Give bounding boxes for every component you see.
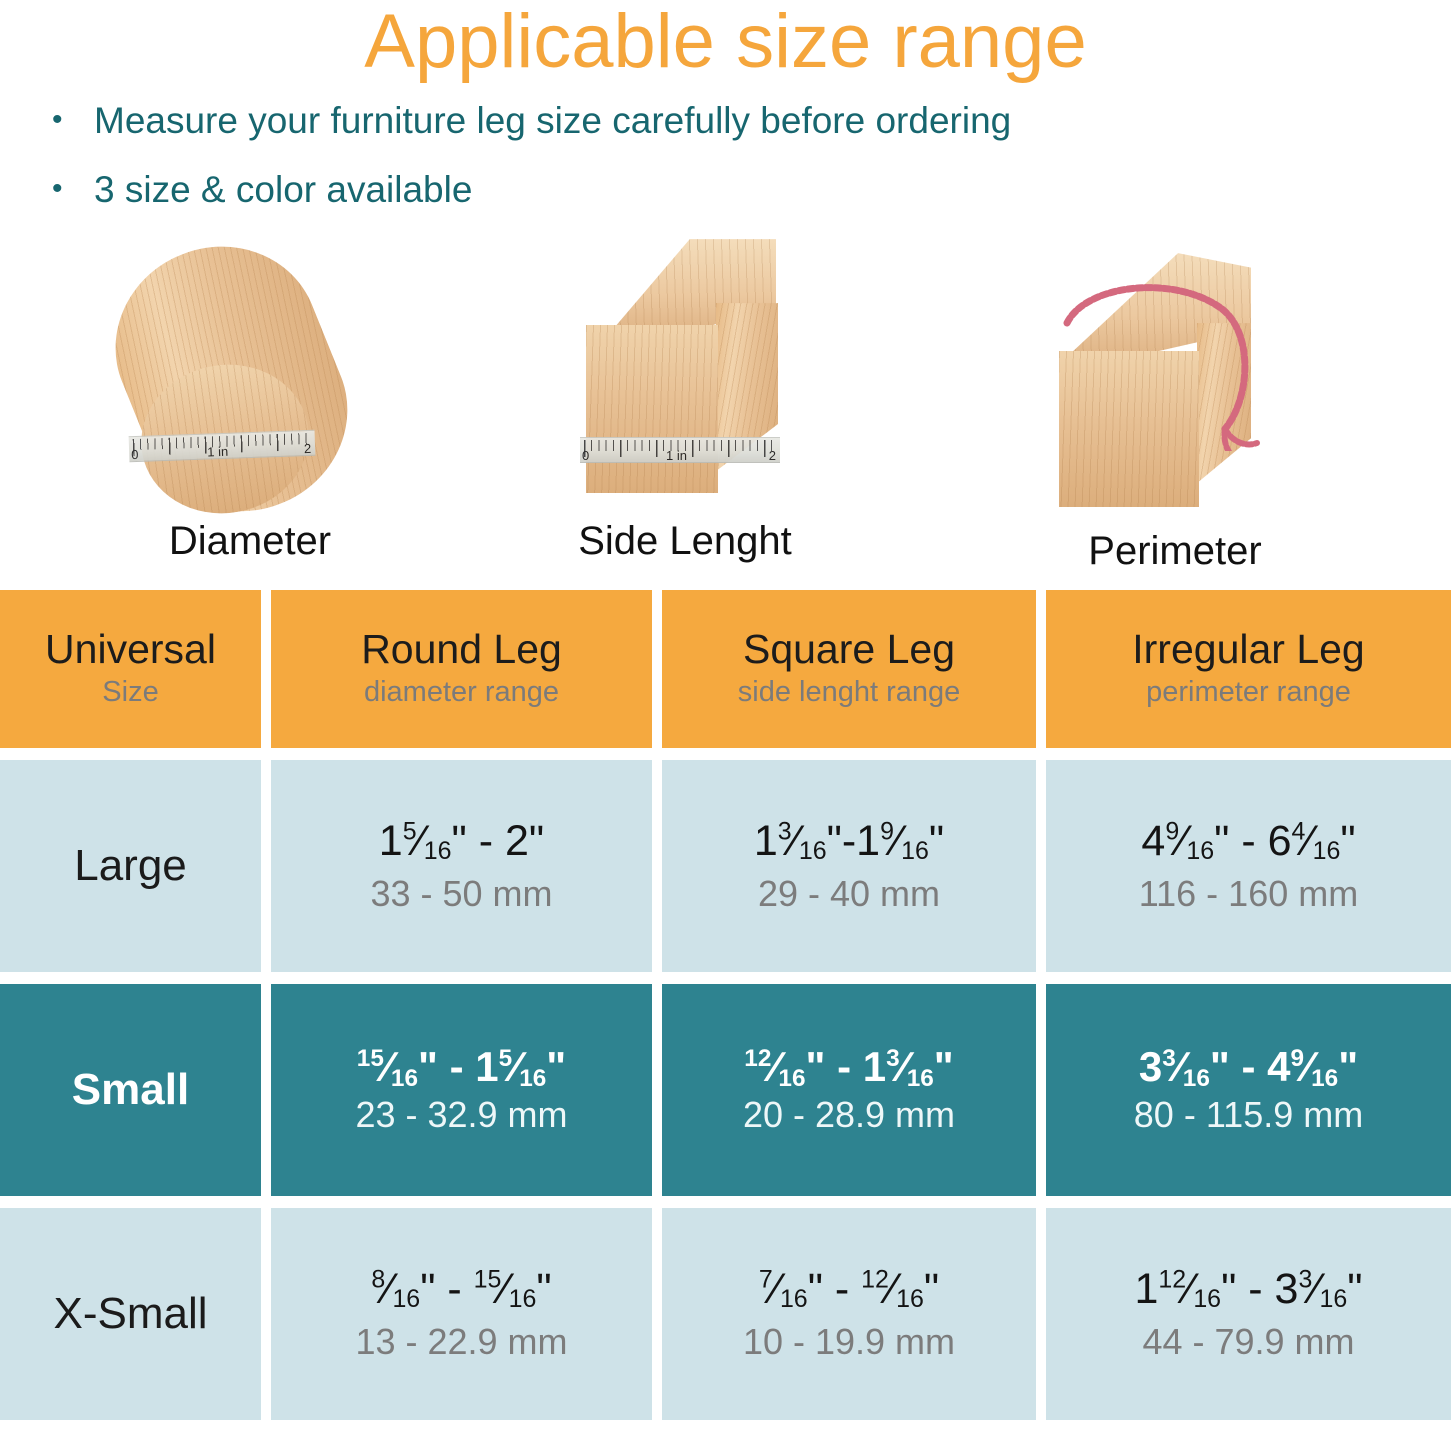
illustration-diameter: 0 1 in 2 Diameter: [90, 237, 410, 564]
bullet-dot-icon: •: [52, 169, 94, 208]
mm-range: 10 - 19.9 mm: [743, 1322, 955, 1362]
size-label: X-Small: [53, 1292, 207, 1336]
mm-range: 80 - 115.9 mm: [1134, 1095, 1363, 1135]
mm-range: 13 - 22.9 mm: [355, 1322, 567, 1362]
square-wood-leg-icon: 0 1 in 2: [580, 237, 790, 517]
column-header-subtitle: diameter range: [364, 675, 559, 710]
inch-range: 33⁄16" - 49⁄16": [1139, 1045, 1358, 1089]
ruler-label-1: 1 in: [207, 445, 228, 459]
row-size-label-cell: Large: [0, 760, 261, 972]
table-row: X-Small 8⁄16" - 15⁄16" 13 - 22.9 mm 7⁄16…: [0, 1208, 1451, 1420]
inch-range: 7⁄16" - 12⁄16": [759, 1267, 939, 1312]
bullet-text: 3 size & color available: [94, 169, 472, 212]
mm-range: 23 - 32.9 mm: [355, 1095, 567, 1135]
illustration-caption: Side Lenght: [525, 519, 845, 564]
inch-range: 15⁄16" - 2": [379, 819, 544, 864]
table-row: Small 15⁄16" - 15⁄16" 23 - 32.9 mm 12⁄16…: [0, 984, 1451, 1196]
cell-round-leg: 15⁄16" - 2" 33 - 50 mm: [271, 760, 652, 972]
bullet-text: Measure your furniture leg size carefull…: [94, 100, 1011, 143]
ruler-label-0: 0: [131, 448, 139, 461]
inch-range: 112⁄16" - 33⁄16": [1134, 1267, 1362, 1312]
cell-irregular-leg: 49⁄16" - 64⁄16" 116 - 160 mm: [1046, 760, 1451, 972]
mm-range: 20 - 28.9 mm: [743, 1095, 955, 1135]
cell-round-leg: 15⁄16" - 15⁄16" 23 - 32.9 mm: [271, 984, 652, 1196]
illustration-band: 0 1 in 2 Diameter 0 1 in 2 Side Lenght: [0, 237, 1451, 567]
mm-range: 29 - 40 mm: [758, 874, 940, 914]
column-header-subtitle: side lenght range: [738, 675, 961, 710]
column-header-title: Square Leg: [743, 628, 955, 671]
column-header-subtitle: perimeter range: [1146, 675, 1351, 710]
column-header-title: Universal: [45, 628, 216, 671]
page-title: Applicable size range: [0, 0, 1451, 80]
list-item: • Measure your furniture leg size carefu…: [52, 100, 1451, 143]
column-header-title: Irregular Leg: [1132, 628, 1364, 671]
illustration-side-length: 0 1 in 2 Side Lenght: [525, 237, 845, 564]
bullet-list: • Measure your furniture leg size carefu…: [0, 80, 1451, 211]
round-wood-leg-icon: 0 1 in 2: [125, 237, 375, 517]
block-front-face: [586, 325, 718, 493]
ruler-icon: 0 1 in 2: [580, 437, 780, 463]
inch-range: 12⁄16" - 13⁄16": [744, 1045, 953, 1089]
table-header-row: Universal Size Round Leg diameter range …: [0, 590, 1451, 748]
column-header-round-leg: Round Leg diameter range: [271, 590, 652, 748]
cell-square-leg: 12⁄16" - 13⁄16" 20 - 28.9 mm: [662, 984, 1036, 1196]
mm-range: 44 - 79.9 mm: [1142, 1322, 1354, 1362]
cell-square-leg: 7⁄16" - 12⁄16" 10 - 19.9 mm: [662, 1208, 1036, 1420]
cell-square-leg: 13⁄16"-19⁄16" 29 - 40 mm: [662, 760, 1036, 972]
ruler-label-1: 1 in: [666, 449, 687, 462]
inch-range: 15⁄16" - 15⁄16": [357, 1045, 566, 1089]
bullet-dot-icon: •: [52, 100, 94, 139]
ruler-label-2: 2: [304, 442, 312, 455]
size-chart-table: Universal Size Round Leg diameter range …: [0, 590, 1451, 1432]
mm-range: 33 - 50 mm: [370, 874, 552, 914]
inch-range: 49⁄16" - 64⁄16": [1141, 819, 1355, 864]
column-header-universal-size: Universal Size: [0, 590, 261, 748]
illustration-caption: Diameter: [90, 519, 410, 564]
row-size-label-cell: Small: [0, 984, 261, 1196]
column-header-irregular-leg: Irregular Leg perimeter range: [1046, 590, 1451, 748]
column-header-subtitle: Size: [102, 675, 158, 710]
list-item: • 3 size & color available: [52, 169, 1451, 212]
inch-range: 8⁄16" - 15⁄16": [371, 1267, 551, 1312]
size-label: Small: [72, 1068, 189, 1112]
cell-irregular-leg: 33⁄16" - 49⁄16" 80 - 115.9 mm: [1046, 984, 1451, 1196]
column-header-title: Round Leg: [361, 628, 562, 671]
ruler-label-2: 2: [769, 449, 776, 462]
cell-round-leg: 8⁄16" - 15⁄16" 13 - 22.9 mm: [271, 1208, 652, 1420]
illustration-caption: Perimeter: [1005, 529, 1345, 574]
row-size-label-cell: X-Small: [0, 1208, 261, 1420]
irregular-wood-leg-icon: [1055, 247, 1295, 527]
size-label: Large: [74, 844, 187, 888]
string-icon: [1057, 261, 1263, 451]
illustration-perimeter: Perimeter: [1005, 247, 1345, 574]
table-row: Large 15⁄16" - 2" 33 - 50 mm 13⁄16"-19⁄1…: [0, 760, 1451, 972]
ruler-label-0: 0: [582, 449, 589, 462]
mm-range: 116 - 160 mm: [1139, 874, 1358, 914]
column-header-square-leg: Square Leg side lenght range: [662, 590, 1036, 748]
cell-irregular-leg: 112⁄16" - 33⁄16" 44 - 79.9 mm: [1046, 1208, 1451, 1420]
inch-range: 13⁄16"-19⁄16": [754, 819, 944, 864]
